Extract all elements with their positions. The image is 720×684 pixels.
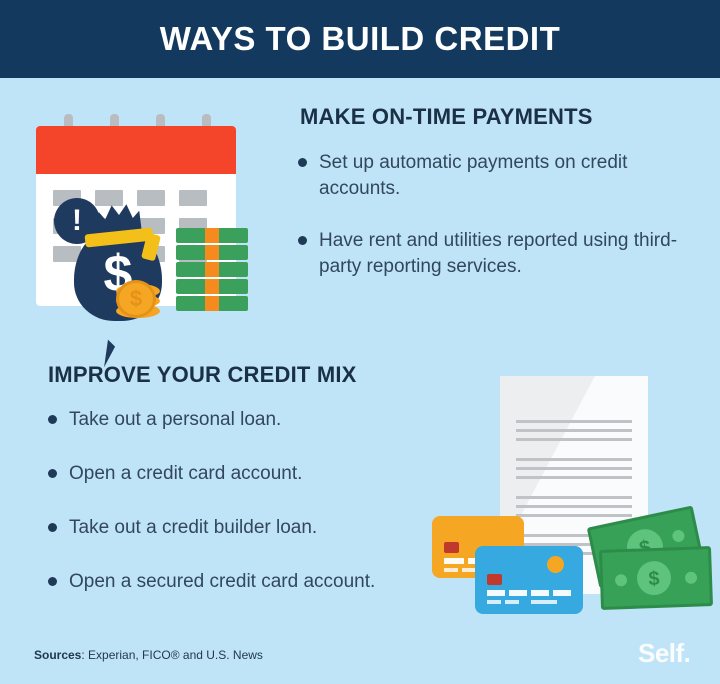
cash-band xyxy=(205,245,219,260)
card-detail-block xyxy=(462,568,476,572)
calendar-day-cell xyxy=(179,190,207,206)
document-text-line xyxy=(516,505,632,508)
bullet-item: Open a credit card account. xyxy=(48,461,428,487)
calendar-day-cell xyxy=(137,190,165,206)
bullet-dot-icon xyxy=(48,415,57,424)
bill-side-circle xyxy=(671,529,685,543)
card-number-block xyxy=(444,558,464,564)
bullet-item: Have rent and utilities reported using t… xyxy=(298,228,688,280)
bullet-dot-icon xyxy=(48,577,57,586)
dollar-bill: $ xyxy=(599,546,713,610)
card-circle-decor xyxy=(547,556,564,573)
self-brand-logo: Self. xyxy=(638,638,690,669)
card-detail-block xyxy=(487,600,501,604)
calendar-money-illustration: ! $ $ xyxy=(28,108,278,323)
coin-dollar-sign-icon: $ xyxy=(116,280,156,318)
infographic-canvas: WAYS TO BUILD CREDIT ! xyxy=(0,0,720,684)
bullet-dot-icon xyxy=(48,469,57,478)
bullet-dot-icon xyxy=(298,158,307,167)
document-text-line xyxy=(516,438,632,441)
document-text-line xyxy=(516,496,632,499)
bullet-item: Set up automatic payments on credit acco… xyxy=(298,150,688,202)
cash-band xyxy=(205,262,219,277)
card-number-block xyxy=(531,590,549,596)
bullet-text: Open a secured credit card account. xyxy=(69,569,375,595)
bill-side-circle xyxy=(685,572,697,584)
card-number-block xyxy=(487,590,505,596)
page-title: WAYS TO BUILD CREDIT xyxy=(0,20,720,58)
document-cards-cash-illustration: $ $ xyxy=(430,368,710,618)
document-text-line xyxy=(516,514,632,517)
bullet-dot-icon xyxy=(298,236,307,245)
card-circle-decor xyxy=(502,526,519,543)
bullet-text: Take out a credit builder loan. xyxy=(69,515,317,541)
card-detail-block xyxy=(531,600,557,604)
card-chip-icon xyxy=(487,574,502,585)
bullet-text: Have rent and utilities reported using t… xyxy=(319,228,688,280)
document-text-line xyxy=(516,467,632,470)
cash-band xyxy=(205,228,219,243)
cash-band xyxy=(205,296,219,311)
bullet-text: Open a credit card account. xyxy=(69,461,302,487)
card-number-block xyxy=(553,590,571,596)
card-detail-block xyxy=(505,600,519,604)
document-text-line xyxy=(516,476,632,479)
bullet-dot-icon xyxy=(48,523,57,532)
bullet-text: Set up automatic payments on credit acco… xyxy=(319,150,688,202)
bullet-text: Take out a personal loan. xyxy=(69,407,281,433)
calendar-header-strip xyxy=(36,126,236,174)
document-text-line xyxy=(516,420,632,423)
sources-value: Experian, FICO® and U.S. News xyxy=(88,648,263,662)
sources-line: Sources: Experian, FICO® and U.S. News xyxy=(34,648,263,662)
cash-band xyxy=(205,279,219,294)
bill-side-circle xyxy=(615,574,627,586)
card-chip-icon xyxy=(444,542,459,553)
bullet-item: Take out a personal loan. xyxy=(48,407,428,433)
bullet-item: Open a secured credit card account. xyxy=(48,569,378,595)
section-heading-improve-your-credit-mix: IMPROVE YOUR CREDIT MIX xyxy=(48,362,357,388)
document-text-line xyxy=(516,458,632,461)
card-number-block xyxy=(509,590,527,596)
document-text-line xyxy=(516,429,632,432)
card-detail-block xyxy=(444,568,458,572)
section-heading-make-on-time-payments: MAKE ON-TIME PAYMENTS xyxy=(300,104,593,130)
bullet-item: Take out a credit builder loan. xyxy=(48,515,428,541)
bill-dollar-sign-icon: $ xyxy=(637,567,672,591)
sources-label: Sources xyxy=(34,648,81,662)
